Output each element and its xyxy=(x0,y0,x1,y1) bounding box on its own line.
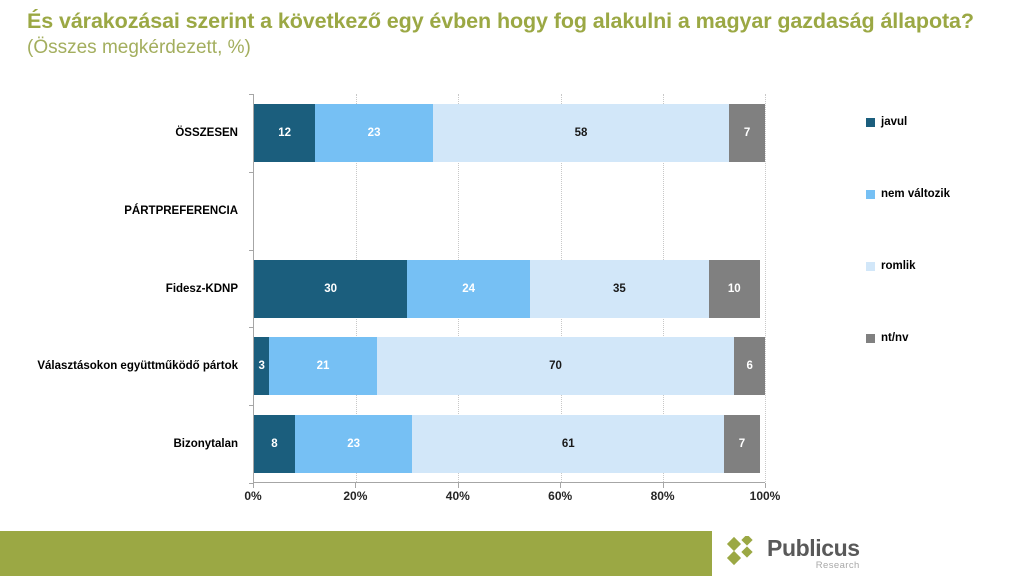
legend-swatch-icon xyxy=(866,334,875,343)
legend-label: nem változik xyxy=(881,188,950,200)
bar-segment-nt/nv[interactable]: 10 xyxy=(709,260,760,318)
legend-item-romlik[interactable]: romlik xyxy=(866,260,916,272)
bar-value-label: 24 xyxy=(462,283,475,295)
page-title: És várakozásai szerint a következő egy é… xyxy=(27,8,987,61)
bar-segment-nt/nv[interactable]: 7 xyxy=(729,104,765,162)
y-axis-tick xyxy=(249,250,254,251)
bar-row[interactable]: 1223587 xyxy=(254,104,765,162)
bar-segment-javul[interactable]: 3 xyxy=(254,337,269,395)
y-axis-tick xyxy=(249,405,254,406)
x-axis-tick-mark xyxy=(458,483,459,488)
y-axis-label-3: Fidesz-KDNP xyxy=(166,283,238,295)
bar-value-label: 12 xyxy=(278,127,291,139)
bar-segment-nem-változik[interactable]: 21 xyxy=(269,337,376,395)
bar-segment-nem-változik[interactable]: 23 xyxy=(295,415,413,473)
y-axis-label-1: ÖSSZESEN xyxy=(175,127,238,139)
bar-value-label: 61 xyxy=(562,438,575,450)
bar-value-label: 30 xyxy=(324,283,337,295)
bar-value-label: 23 xyxy=(368,127,381,139)
y-axis-tick xyxy=(249,327,254,328)
bar-segment-romlik[interactable]: 61 xyxy=(412,415,724,473)
stacked-bar-chart: ÖSSZESENPÁRTPREFERENCIAFidesz-KDNPVálasz… xyxy=(0,88,800,508)
bar-segment-nem-változik[interactable]: 24 xyxy=(407,260,530,318)
x-axis-tick-mark xyxy=(253,483,254,488)
logo-name-text: Publicus xyxy=(767,537,860,560)
bar-value-label: 58 xyxy=(575,127,588,139)
bar-segment-nem-változik[interactable]: 23 xyxy=(315,104,433,162)
x-axis-tick-label: 80% xyxy=(651,489,675,503)
x-axis-tick-label: 100% xyxy=(750,489,781,503)
bar-segment-romlik[interactable]: 58 xyxy=(433,104,729,162)
x-axis-tick-mark xyxy=(663,483,664,488)
legend-item-javul[interactable]: javul xyxy=(866,116,907,128)
bar-segment-romlik[interactable]: 35 xyxy=(530,260,709,318)
bar-segment-nt/nv[interactable]: 6 xyxy=(734,337,765,395)
legend-label: nt/nv xyxy=(881,332,908,344)
bar-segment-romlik[interactable]: 70 xyxy=(377,337,735,395)
legend-item-nt-nv[interactable]: nt/nv xyxy=(866,332,908,344)
y-axis-tick xyxy=(249,94,254,95)
x-axis: 0%20%40%60%80%100% xyxy=(253,483,765,509)
plot-area: 122358730243510321706823617 xyxy=(253,94,765,483)
bar-row[interactable]: 30243510 xyxy=(254,260,765,318)
y-axis-tick xyxy=(249,172,254,173)
gridline-100 xyxy=(765,94,766,482)
x-axis-tick-label: 60% xyxy=(548,489,572,503)
logo-tagline-text: Research xyxy=(767,561,860,571)
bar-segment-javul[interactable]: 8 xyxy=(254,415,295,473)
bar-value-label: 10 xyxy=(728,283,741,295)
publicus-logo: Publicus Research xyxy=(712,531,1024,576)
title-subtitle-text: (Összes megkérdezett, %) xyxy=(27,37,251,58)
title-main-text: És várakozásai szerint a következő egy é… xyxy=(27,9,974,33)
bar-segment-javul[interactable]: 30 xyxy=(254,260,407,318)
y-axis-category-labels: ÖSSZESENPÁRTPREFERENCIAFidesz-KDNPVálasz… xyxy=(0,88,246,483)
bar-segment-javul[interactable]: 12 xyxy=(254,104,315,162)
legend-swatch-icon xyxy=(866,118,875,127)
chart-legend: javulnem változikromliknt/nv xyxy=(866,88,1016,408)
bar-row[interactable]: 823617 xyxy=(254,415,765,473)
x-axis-tick-mark xyxy=(560,483,561,488)
legend-label: romlik xyxy=(881,260,916,272)
x-axis-tick-label: 40% xyxy=(446,489,470,503)
x-axis-tick-label: 0% xyxy=(244,489,261,503)
x-axis-tick-mark xyxy=(765,483,766,488)
x-axis-tick-label: 20% xyxy=(343,489,367,503)
bar-value-label: 21 xyxy=(317,360,330,372)
y-axis-label-4: Választásokon együttműködő pártok xyxy=(37,360,238,372)
legend-label: javul xyxy=(881,116,907,128)
bar-value-label: 7 xyxy=(739,438,745,450)
bar-row[interactable]: 321706 xyxy=(254,337,765,395)
bar-value-label: 23 xyxy=(347,438,360,450)
legend-swatch-icon xyxy=(866,190,875,199)
diamonds-logo-icon xyxy=(726,536,760,571)
bar-value-label: 35 xyxy=(613,283,626,295)
x-axis-tick-mark xyxy=(355,483,356,488)
footer-green-bar xyxy=(0,531,712,576)
bar-value-label: 3 xyxy=(258,360,264,372)
bar-segment-nt/nv[interactable]: 7 xyxy=(724,415,760,473)
bar-value-label: 70 xyxy=(549,360,562,372)
y-axis-label-2: PÁRTPREFERENCIA xyxy=(124,205,238,217)
bar-value-label: 6 xyxy=(746,360,752,372)
legend-swatch-icon xyxy=(866,262,875,271)
y-axis-label-5: Bizonytalan xyxy=(173,438,238,450)
bar-value-label: 8 xyxy=(271,438,277,450)
legend-item-nem-változik[interactable]: nem változik xyxy=(866,188,950,200)
bar-value-label: 7 xyxy=(744,127,750,139)
